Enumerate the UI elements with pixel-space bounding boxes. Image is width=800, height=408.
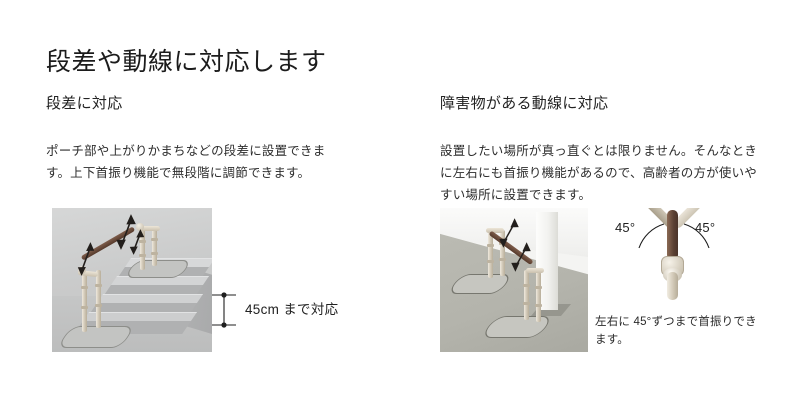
angle-label-right: 45° (695, 220, 715, 235)
section-heading-obstacle-support: 障害物がある動線に対応 (440, 94, 770, 114)
angle-label-left: 45° (615, 220, 635, 235)
page-title: 段差や動線に対応します (46, 47, 327, 77)
dimension-line (212, 288, 244, 332)
dimension-callout-45cm: 45cm まで対応 (212, 288, 244, 332)
swivel-angle-caption: 左右に 45°ずつまで首振りできます。 (595, 313, 765, 350)
section-step-support: 段差に対応 ポーチ部や上がりかまちなどの段差に設置できます。上下首振り機能で無段… (46, 94, 396, 184)
figure-stairs-handrail (52, 208, 212, 352)
swivel-angle-illustration: 45° 45° (595, 208, 753, 300)
swivel-arrows-icon (52, 208, 212, 352)
section-body-obstacle-support: 設置したい場所が真っ直ぐとは限りません。そんなときに左右にも首振り機能があるので… (440, 140, 758, 207)
section-obstacle-support: 障害物がある動線に対応 設置したい場所が真っ直ぐとは限りません。そんなときに左右… (440, 94, 770, 206)
swivel-arrows-icon-2 (440, 208, 588, 352)
pillar-obstacle-illustration (440, 208, 588, 352)
stairs-handrail-illustration (52, 208, 212, 352)
section-body-step-support: ポーチ部や上がりかまちなどの段差に設置できます。上下首振り機能で無段階に調節でき… (46, 140, 346, 185)
dimension-label-45cm: 45cm まで対応 (245, 298, 338, 318)
section-heading-step-support: 段差に対応 (46, 94, 396, 114)
